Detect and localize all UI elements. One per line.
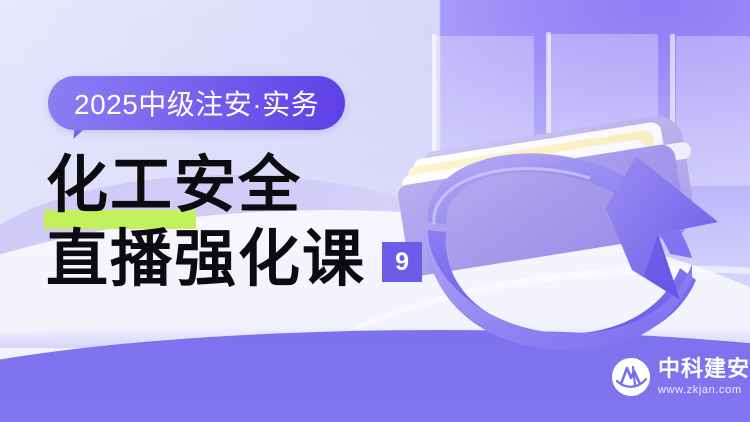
headline-block: 化工安全 直播强化课 9 [46,148,466,296]
headline-line-1: 化工安全 [46,148,302,222]
headline-row-1: 化工安全 [46,148,466,222]
brand-logo-text: 中科建安 www.zkjan.com [658,359,750,396]
course-promo-banner: 2025中级注安·实务 化工安全 直播强化课 9 中科建安 www.zkjan.… [0,0,750,422]
course-category-pill: 2025中级注安·实务 [48,76,345,130]
course-category-label: 2025中级注安·实务 [74,83,319,123]
episode-number-badge: 9 [382,242,422,282]
headline-line-2: 直播强化课 [46,222,366,296]
brand-logo: 中科建安 www.zkjan.com [612,358,750,396]
headline-row-2: 直播强化课 9 [46,222,466,296]
brand-name-cn: 中科建安 [658,359,750,381]
zkjan-circle-monogram-icon [612,358,650,396]
brand-url: www.zkjan.com [658,385,750,396]
